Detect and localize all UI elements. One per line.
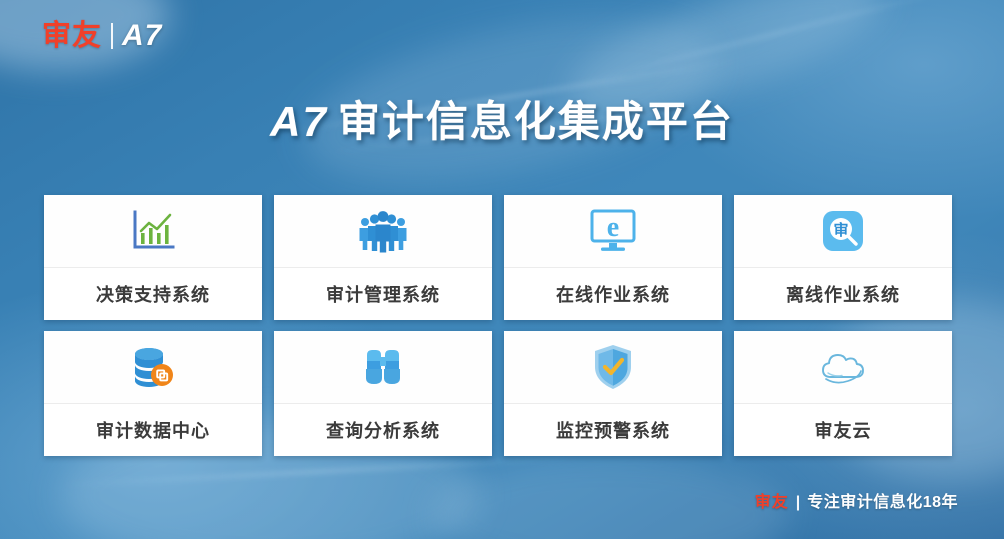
page-title-main: 审计信息化集成平台 [338,98,734,145]
module-card-label: 审计数据中心 [44,404,262,456]
module-grid: 决策支持系统 审计管理系统 [44,195,952,456]
card-icon-area [44,331,262,404]
module-card-shenyou-cloud[interactable]: 审友云 [734,331,952,456]
module-card-label: 离线作业系统 [734,268,952,320]
footer-brand-name: 审友 [755,488,789,512]
module-card-data-center[interactable]: 审计数据中心 [44,331,262,456]
module-card-query-analysis[interactable]: 查询分析系统 [274,331,492,456]
database-icon [129,344,177,390]
people-group-icon [356,209,410,253]
module-card-monitoring-alert[interactable]: 监控预警系统 [504,331,722,456]
module-card-label: 审友云 [734,404,952,456]
card-icon-area [274,195,492,268]
light-streak-decoration [60,456,579,486]
module-card-online-work[interactable]: e 在线作业系统 [504,195,722,320]
module-card-label: 在线作业系统 [504,268,722,320]
brand-name-cn: 审友 [42,22,102,51]
module-card-label: 审计管理系统 [274,268,492,320]
module-card-label: 监控预警系统 [504,404,722,456]
svg-text:e: e [607,212,619,243]
card-icon-area [44,195,262,268]
card-icon-area [274,331,492,404]
card-icon-area: e [504,195,722,268]
binoculars-icon [360,345,406,389]
brand-divider [111,23,113,49]
footer-slogan-bar: 审友 | 专注审计信息化18年 [755,488,958,512]
module-card-audit-management[interactable]: 审计管理系统 [274,195,492,320]
bar-chart-icon [130,209,176,253]
brand-product-name: A7 [122,21,162,51]
card-icon-area: 审 [734,195,952,268]
slide-canvas: 审友 A7 A7审计信息化集成平台 决策支持系统 [0,0,1004,539]
cloud-icon [816,346,870,388]
page-title-prefix: A7 [270,98,328,145]
card-icon-area [504,331,722,404]
svg-text:审: 审 [833,221,848,239]
module-card-offline-work[interactable]: 审 离线作业系统 [734,195,952,320]
module-card-label: 查询分析系统 [274,404,492,456]
footer-slogan-text: 专注审计信息化18年 [807,488,958,512]
light-streak-decoration [566,0,974,87]
app-search-audit-icon: 审 [820,208,866,254]
module-card-decision-support[interactable]: 决策支持系统 [44,195,262,320]
shield-check-icon [591,343,635,391]
monitor-e-icon: e [588,208,638,254]
page-title: A7审计信息化集成平台 [0,88,1004,149]
brand-logo: 审友 A7 [42,21,162,51]
footer-divider: | [796,494,800,512]
cloud-decoration [430,455,790,539]
card-icon-area [734,331,952,404]
module-card-label: 决策支持系统 [44,268,262,320]
